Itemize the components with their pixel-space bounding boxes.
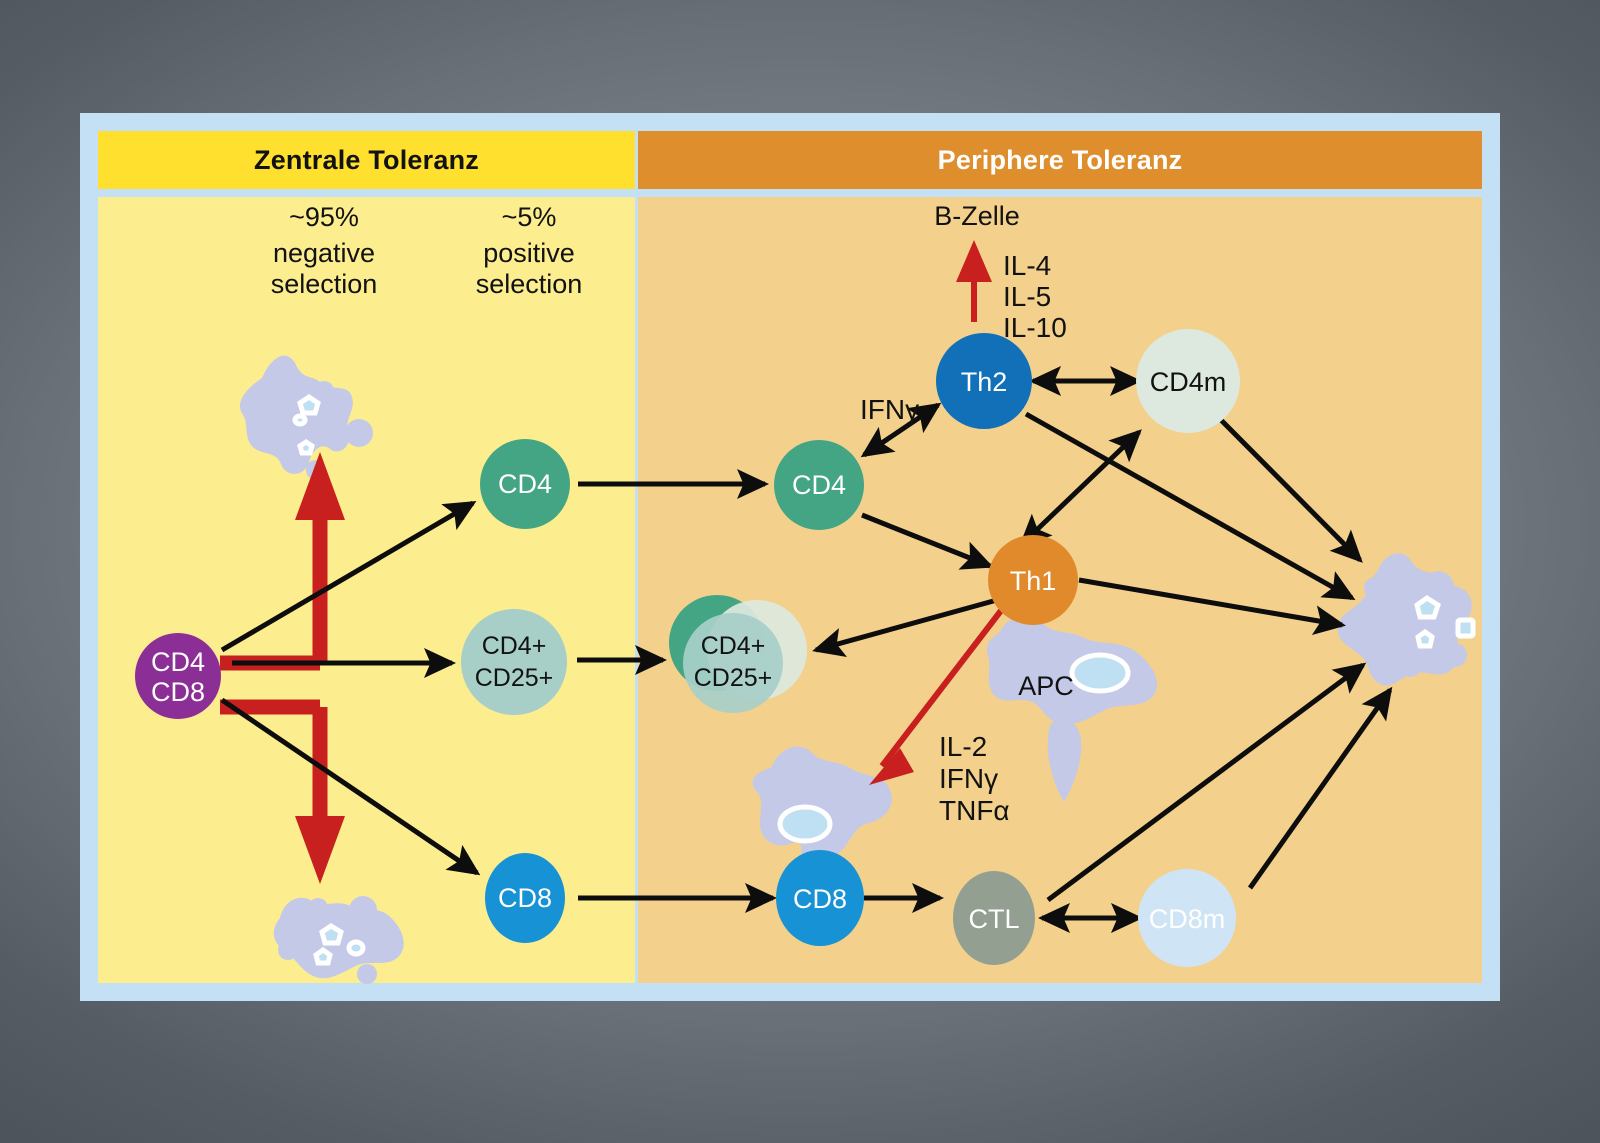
negative-selection-arrow-up: [220, 452, 345, 663]
node-cd4m[interactable]: CD4m: [1136, 329, 1240, 433]
node-cd4-peripheral[interactable]: CD4: [774, 440, 864, 530]
vacuole: [780, 807, 830, 841]
caption-negative-line1: negative: [273, 238, 375, 268]
treg-peripheral-label-2: CD25+: [694, 664, 773, 692]
treg-central-label-1: CD4+: [482, 632, 547, 660]
node-progenitor[interactable]: CD4 CD8: [135, 633, 221, 719]
cd4-central-label: CD4: [498, 469, 552, 499]
node-cd8-peripheral[interactable]: CD8: [776, 850, 864, 946]
cd4m-label: CD4m: [1150, 367, 1227, 397]
ctl-label: CTL: [968, 904, 1019, 934]
cytokine-list-th1: IL-2 IFNγ TNFα: [939, 731, 1010, 826]
cytokine-ifn-gamma-th1: IFNγ: [939, 763, 998, 794]
edge-cd8m-to-apoptotic: [1250, 690, 1390, 888]
cd8m-label: CD8m: [1149, 904, 1226, 934]
caption-positive-line2: selection: [476, 269, 583, 299]
caption-b-cell: B-Zelle: [934, 201, 1020, 231]
cytokine-il5: IL-5: [1003, 281, 1051, 312]
caption-negative-selection: ~95% negative selection: [271, 202, 378, 299]
cd8-central-label: CD8: [498, 883, 552, 913]
node-th1[interactable]: Th1: [988, 535, 1078, 625]
progenitor-label-cd4: CD4: [151, 647, 205, 677]
apc-th1: APC: [987, 614, 1157, 802]
node-treg-central[interactable]: CD4+ CD25+: [461, 609, 567, 715]
th1-label: Th1: [1010, 566, 1057, 596]
cytokine-tnf-alpha: TNFα: [939, 795, 1010, 826]
cytokine-ifn-gamma-th2: IFNγ: [860, 394, 919, 425]
treg-central-label-2: CD25+: [475, 664, 554, 692]
cytokine-il10: IL-10: [1003, 312, 1067, 343]
node-treg-peripheral[interactable]: CD4+ CD25+: [669, 595, 807, 713]
node-cd8m[interactable]: CD8m: [1138, 869, 1236, 967]
cytokine-il2: IL-2: [939, 731, 987, 762]
cytokine-il4: IL-4: [1003, 250, 1051, 281]
node-th2[interactable]: Th2: [936, 333, 1032, 429]
node-cd8-central[interactable]: CD8: [485, 853, 565, 943]
caption-positive-selection: ~5% positive selection: [476, 202, 583, 299]
vacuole: [1417, 598, 1438, 617]
caption-negative-line2: selection: [271, 269, 378, 299]
apoptotic-top-left: [240, 356, 373, 480]
diagram-artwork: ~95% negative selection ~5% positive sel…: [0, 0, 1600, 1143]
edge-cd4-to-th1: [862, 515, 990, 566]
edge-th1-to-apoptotic: [1079, 580, 1342, 625]
edge-th1-cd4m-bidirectional: [1022, 432, 1139, 544]
vacuole: [300, 442, 312, 453]
th2-label: Th2: [961, 367, 1008, 397]
b-cell-help-arrow: [956, 240, 992, 322]
treg-peripheral-label-1: CD4+: [701, 632, 766, 660]
vacuole: [322, 926, 341, 943]
caption-positive-pct: ~5%: [502, 202, 557, 232]
vacuole: [1418, 632, 1432, 646]
figure-canvas: Zentrale Toleranz Periphere Toleranz ~95…: [0, 0, 1600, 1143]
edge-cd4m-to-apoptotic: [1221, 420, 1360, 560]
edge-progenitor-to-cd4: [222, 503, 473, 650]
vacuole: [316, 950, 330, 963]
edge-th1-to-tregp: [816, 600, 997, 650]
node-ctl[interactable]: CTL: [953, 871, 1035, 965]
node-cd4-central[interactable]: CD4: [480, 439, 570, 529]
cytokine-list-b-cell: IL-4 IL-5 IL-10: [1003, 250, 1067, 343]
edge-progenitor-to-cd8: [222, 700, 477, 873]
vacuole: [300, 397, 318, 413]
caption-negative-pct: ~95%: [289, 202, 359, 232]
cd8-peripheral-label: CD8: [793, 884, 847, 914]
apc-label: APC: [1018, 671, 1074, 701]
progenitor-label-cd8: CD8: [151, 677, 205, 707]
apoptotic-bottom-left: [274, 896, 404, 984]
cd4-peripheral-label: CD4: [792, 470, 846, 500]
negative-selection-arrow-down: [220, 707, 345, 884]
vacuole: [1072, 655, 1128, 691]
caption-positive-line1: positive: [483, 238, 575, 268]
